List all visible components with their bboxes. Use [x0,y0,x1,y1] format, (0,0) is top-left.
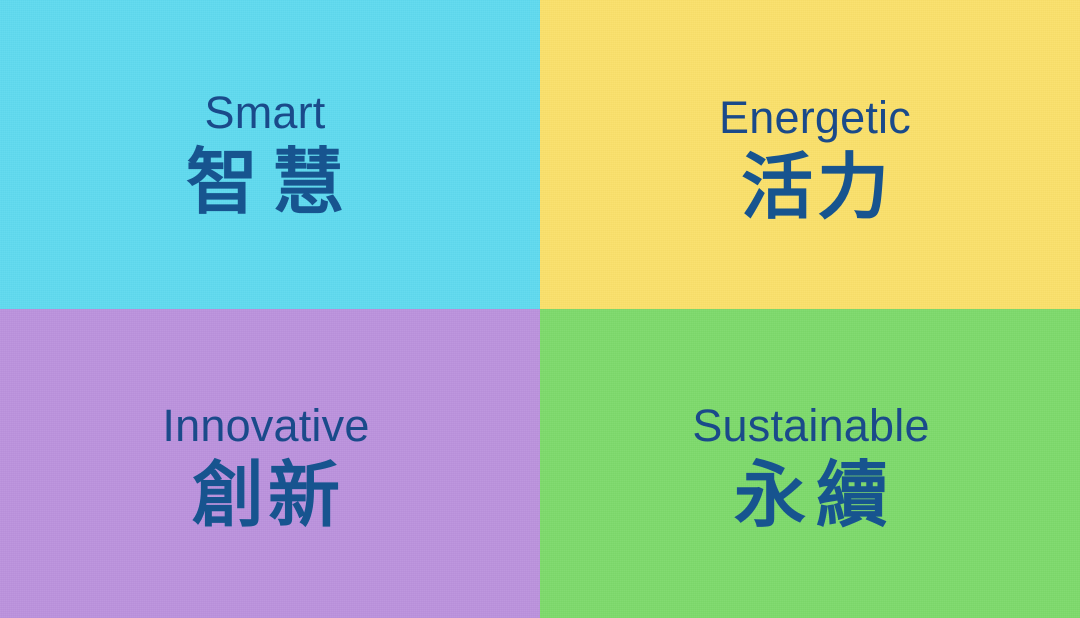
value-label-en-energetic: Energetic [719,94,911,142]
value-grid: Smart 智慧 Energetic 活力 Innovative 創新 Sust… [0,0,1080,618]
value-label-en-smart: Smart [204,89,325,137]
value-label-zh-innovative: 創新 [188,456,344,537]
value-label-en-sustainable: Sustainable [692,402,929,450]
value-cell-smart[interactable]: Smart 智慧 [0,0,540,309]
cell-content-sustainable: Sustainable 永續 [692,402,929,536]
value-label-zh-sustainable: 永續 [724,456,898,537]
value-cell-innovative[interactable]: Innovative 創新 [0,309,540,618]
value-label-zh-smart: 智慧 [172,143,358,224]
cell-content-innovative: Innovative 創新 [162,402,369,536]
cell-content-smart: Smart 智慧 [172,89,358,223]
value-label-zh-energetic: 活力 [737,148,893,229]
value-label-en-innovative: Innovative [162,402,369,450]
value-cell-sustainable[interactable]: Sustainable 永續 [540,309,1080,618]
value-cell-energetic[interactable]: Energetic 活力 [540,0,1080,309]
cell-content-energetic: Energetic 活力 [719,94,911,228]
